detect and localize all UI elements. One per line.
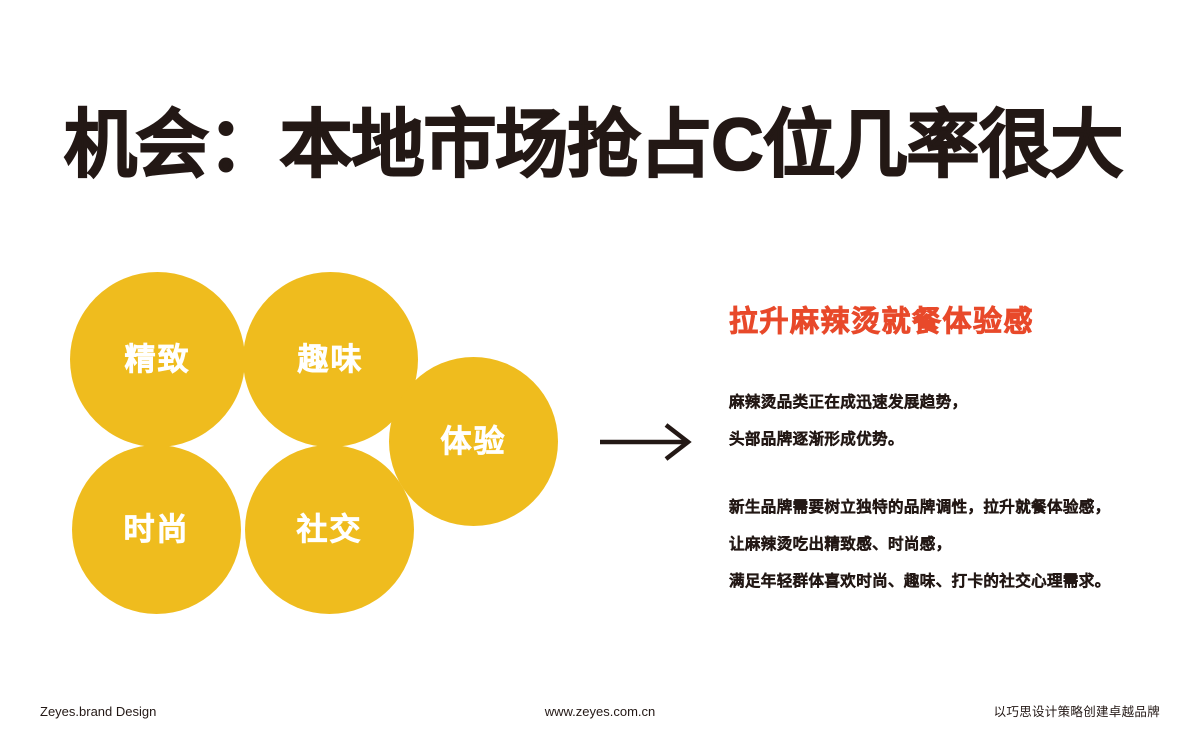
circle-jingzhi[interactable]: 精致 xyxy=(70,272,245,447)
arrow-right-icon xyxy=(598,420,694,464)
circle-label: 体验 xyxy=(441,426,507,457)
circle-label: 时尚 xyxy=(124,514,190,545)
text-block: 拉升麻辣烫就餐体验感 麻辣烫品类正在成迅速发展趋势， 头部品牌逐渐形成优势。 新… xyxy=(729,305,1169,600)
body-paragraph-2: 新生品牌需要树立独特的品牌调性，拉升就餐体验感， 让麻辣烫吃出精致感、时尚感， … xyxy=(729,489,1169,600)
circle-shishang[interactable]: 时尚 xyxy=(72,445,241,614)
body-line: 头部品牌逐渐形成优势。 xyxy=(729,421,1169,458)
body-line: 让麻辣烫吃出精致感、时尚感， xyxy=(729,526,1169,563)
footer: Zeyes.brand Design www.zeyes.com.cn 以巧思设… xyxy=(0,702,1200,722)
section-heading: 拉升麻辣烫就餐体验感 xyxy=(729,305,1169,340)
body-paragraph-1: 麻辣烫品类正在成迅速发展趋势， 头部品牌逐渐形成优势。 xyxy=(729,384,1169,458)
circle-label: 精致 xyxy=(125,344,191,375)
slide-canvas: 机会：本地市场抢占C位几率很大 精致 趣味 时尚 社交 体验 拉升麻辣烫就餐体验… xyxy=(0,0,1200,750)
circle-label: 趣味 xyxy=(298,344,364,375)
body-line: 新生品牌需要树立独特的品牌调性，拉升就餐体验感， xyxy=(729,489,1169,526)
circle-tiyan[interactable]: 体验 xyxy=(389,357,558,526)
circle-shejiao[interactable]: 社交 xyxy=(245,445,414,614)
body-line: 麻辣烫品类正在成迅速发展趋势， xyxy=(729,384,1169,421)
body-line: 满足年轻群体喜欢时尚、趣味、打卡的社交心理需求。 xyxy=(729,563,1169,600)
footer-slogan: 以巧思设计策略创建卓越品牌 xyxy=(994,702,1160,722)
circle-label: 社交 xyxy=(297,514,363,545)
circle-cluster: 精致 趣味 时尚 社交 体验 xyxy=(0,0,600,750)
